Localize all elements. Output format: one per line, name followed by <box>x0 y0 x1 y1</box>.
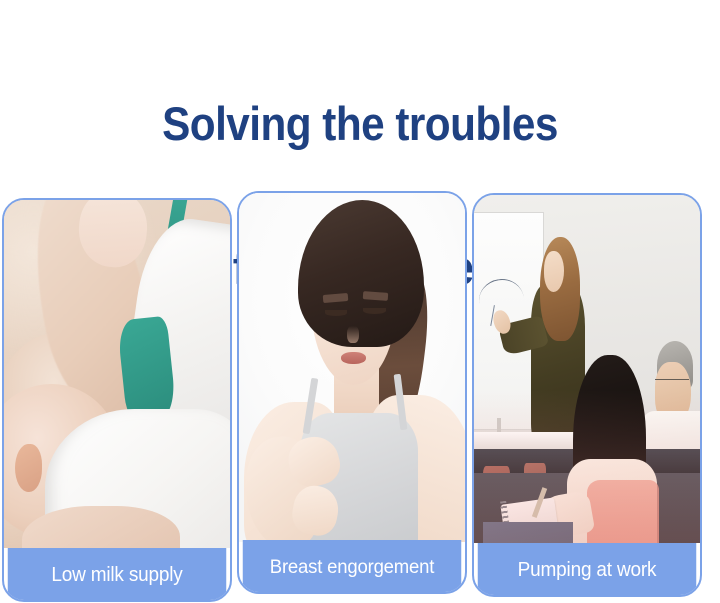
card-caption-pumping-at-work: Pumping at work <box>478 543 697 597</box>
photo3-presenter-hair <box>540 237 581 341</box>
photo3-colleague-glasses <box>655 379 689 390</box>
feature-card-pumping-at-work[interactable]: Pumping at work <box>472 193 702 597</box>
photo3-attendee-jeans <box>483 522 573 543</box>
card-caption-low-milk-supply: Low milk supply <box>8 548 227 602</box>
feature-card-low-milk-supply[interactable]: Low milk supply <box>2 198 232 602</box>
card-caption-breast-engorgement: Breast engorgement <box>243 540 462 594</box>
photo1-baby-ear <box>15 444 42 493</box>
photo-breast-engorgement <box>239 193 465 542</box>
feature-card-row: Low milk supply Breast engorgement <box>0 191 720 601</box>
page-title-line-1: Solving the troubles <box>36 100 684 148</box>
feature-card-breast-engorgement[interactable]: Breast engorgement <box>237 191 467 594</box>
photo2-lips <box>341 352 366 364</box>
photo2-nose <box>347 326 358 343</box>
photo3-attendee-lower-top <box>587 480 659 543</box>
photo3-desk-surface <box>474 432 578 449</box>
photo-breastfeeding <box>4 200 230 548</box>
photo-pumping-at-work <box>474 195 700 543</box>
